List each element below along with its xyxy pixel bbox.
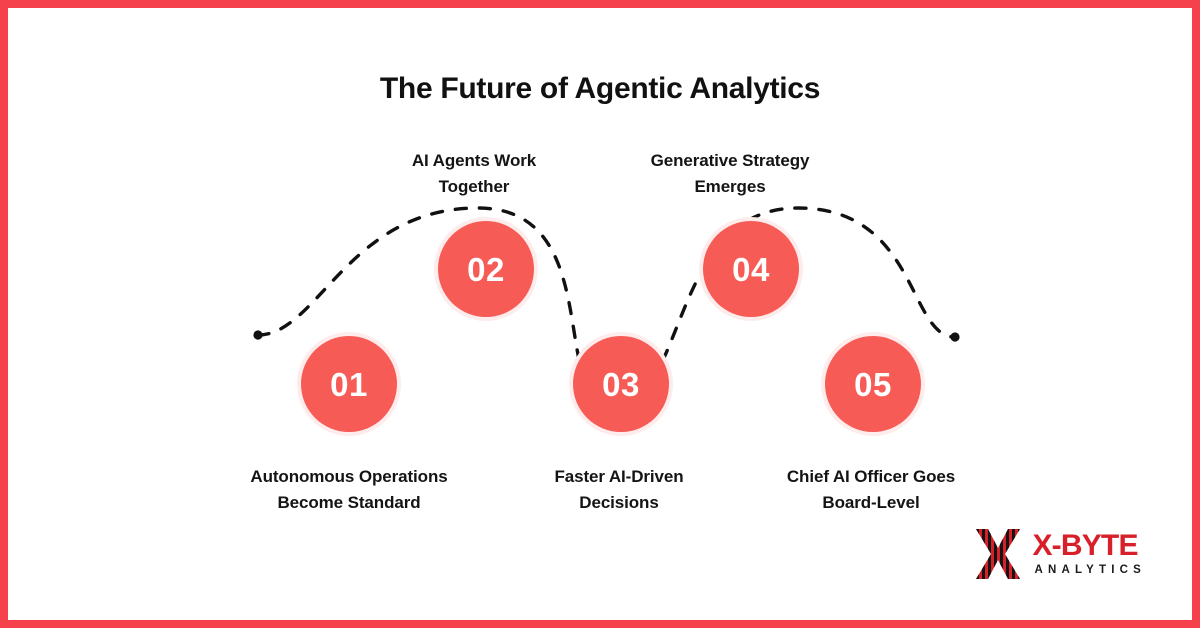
page-title: The Future of Agentic Analytics: [16, 72, 1184, 106]
brand-logo[interactable]: X-BYTE ANALYTICS: [975, 528, 1146, 580]
step-node-04[interactable]: 04: [699, 217, 803, 321]
step-node-01[interactable]: 01: [297, 332, 401, 436]
node-disc: 04: [703, 221, 799, 317]
logo-text: X-BYTE ANALYTICS: [1032, 531, 1146, 577]
node-number: 01: [330, 368, 368, 401]
node-disc: 01: [301, 336, 397, 432]
node-disc: 03: [573, 336, 669, 432]
node-number: 05: [854, 368, 892, 401]
node-number: 02: [467, 253, 505, 286]
node-disc: 02: [438, 221, 534, 317]
node-number: 04: [732, 253, 770, 286]
step-node-05[interactable]: 05: [821, 332, 925, 436]
step-label-line: Chief AI Officer Goes: [701, 464, 1041, 490]
node-disc: 05: [825, 336, 921, 432]
step-node-03[interactable]: 03: [569, 332, 673, 436]
step-label-04: Generative Strategy Emerges: [560, 148, 900, 201]
infographic-frame: The Future of Agentic Analytics 01 Auton…: [0, 0, 1200, 628]
node-number: 03: [602, 368, 640, 401]
step-label-line: Generative Strategy: [560, 148, 900, 174]
step-label-05: Chief AI Officer Goes Board-Level: [701, 464, 1041, 517]
infographic-canvas: The Future of Agentic Analytics 01 Auton…: [16, 16, 1184, 612]
step-node-02[interactable]: 02: [434, 217, 538, 321]
step-label-line: Board-Level: [701, 490, 1041, 516]
logo-subtitle: ANALYTICS: [1034, 565, 1146, 577]
step-label-line: Emerges: [560, 174, 900, 200]
logo-wordmark: X-BYTE: [1032, 531, 1146, 561]
x-byte-hourglass-icon: [975, 528, 1021, 580]
